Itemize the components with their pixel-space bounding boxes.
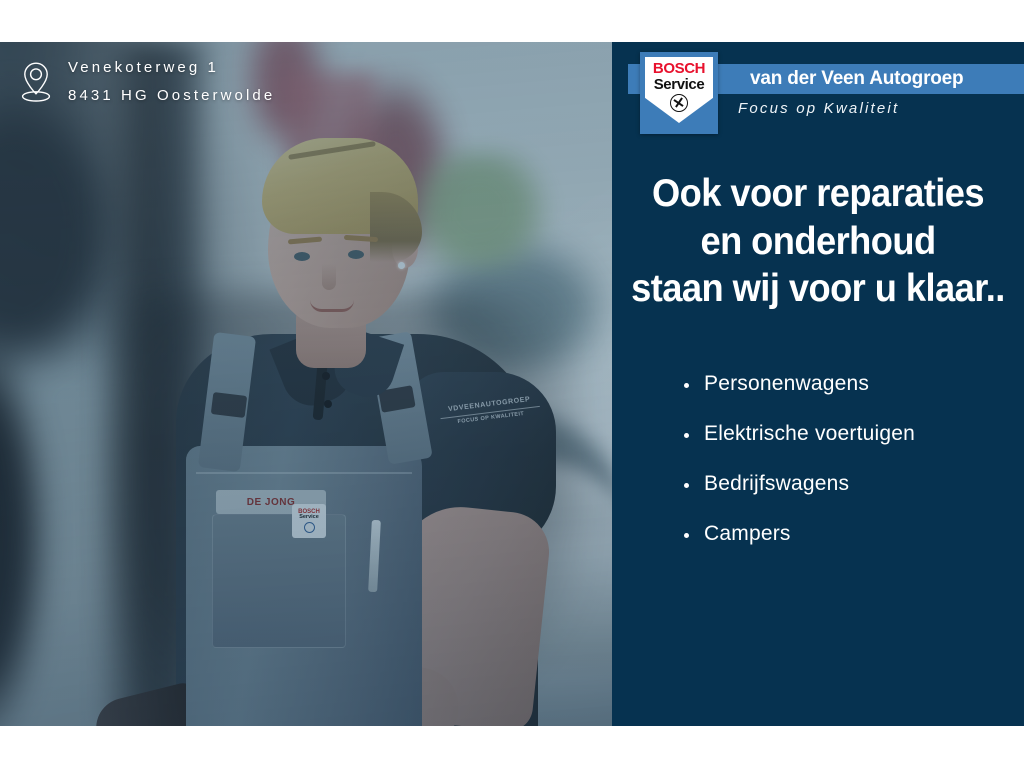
address-street: Venekoterweg 1 (68, 54, 275, 82)
list-item: Campers (682, 522, 915, 546)
bosch-armature-icon (670, 94, 688, 112)
address-city: 8431 HG Oosterwolde (68, 82, 275, 110)
brand-name: van der Veen Autogroep (750, 68, 963, 90)
headline-line-3: staan wij voor u klaar.. (626, 265, 1009, 313)
bosch-car-service-logo: BOSCH Service (640, 52, 718, 134)
list-item: Personenwagens (682, 372, 915, 396)
headline: Ook voor reparaties en onderhoud staan w… (626, 170, 1009, 313)
logo-service-word: Service (654, 76, 705, 93)
address-block: Venekoterweg 1 8431 HG Oosterwolde (18, 54, 275, 110)
services-list: Personenwagens Elektrische voertuigen Be… (682, 372, 915, 572)
info-panel: van der Veen Autogroep BOSCH Service Foc… (612, 42, 1024, 726)
location-pin-icon (18, 59, 54, 105)
advertisement-banner: VDVEENAUTOGROEP FOCUS OP KWALITEIT DE JO… (0, 42, 1024, 726)
list-item: Bedrijfswagens (682, 472, 915, 496)
mechanic-photo: VDVEENAUTOGROEP FOCUS OP KWALITEIT DE JO… (0, 42, 612, 726)
headline-line-1: Ook voor reparaties (626, 170, 1009, 218)
logo-shield: BOSCH Service (645, 57, 713, 123)
brand-tagline: Focus op Kwaliteit (738, 100, 899, 117)
list-item: Elektrische voertuigen (682, 422, 915, 446)
address-lines: Venekoterweg 1 8431 HG Oosterwolde (68, 54, 275, 110)
logo-bosch-word: BOSCH (653, 61, 705, 76)
headline-line-2: en onderhoud (626, 218, 1009, 266)
photo-highlight-grade (0, 42, 612, 726)
